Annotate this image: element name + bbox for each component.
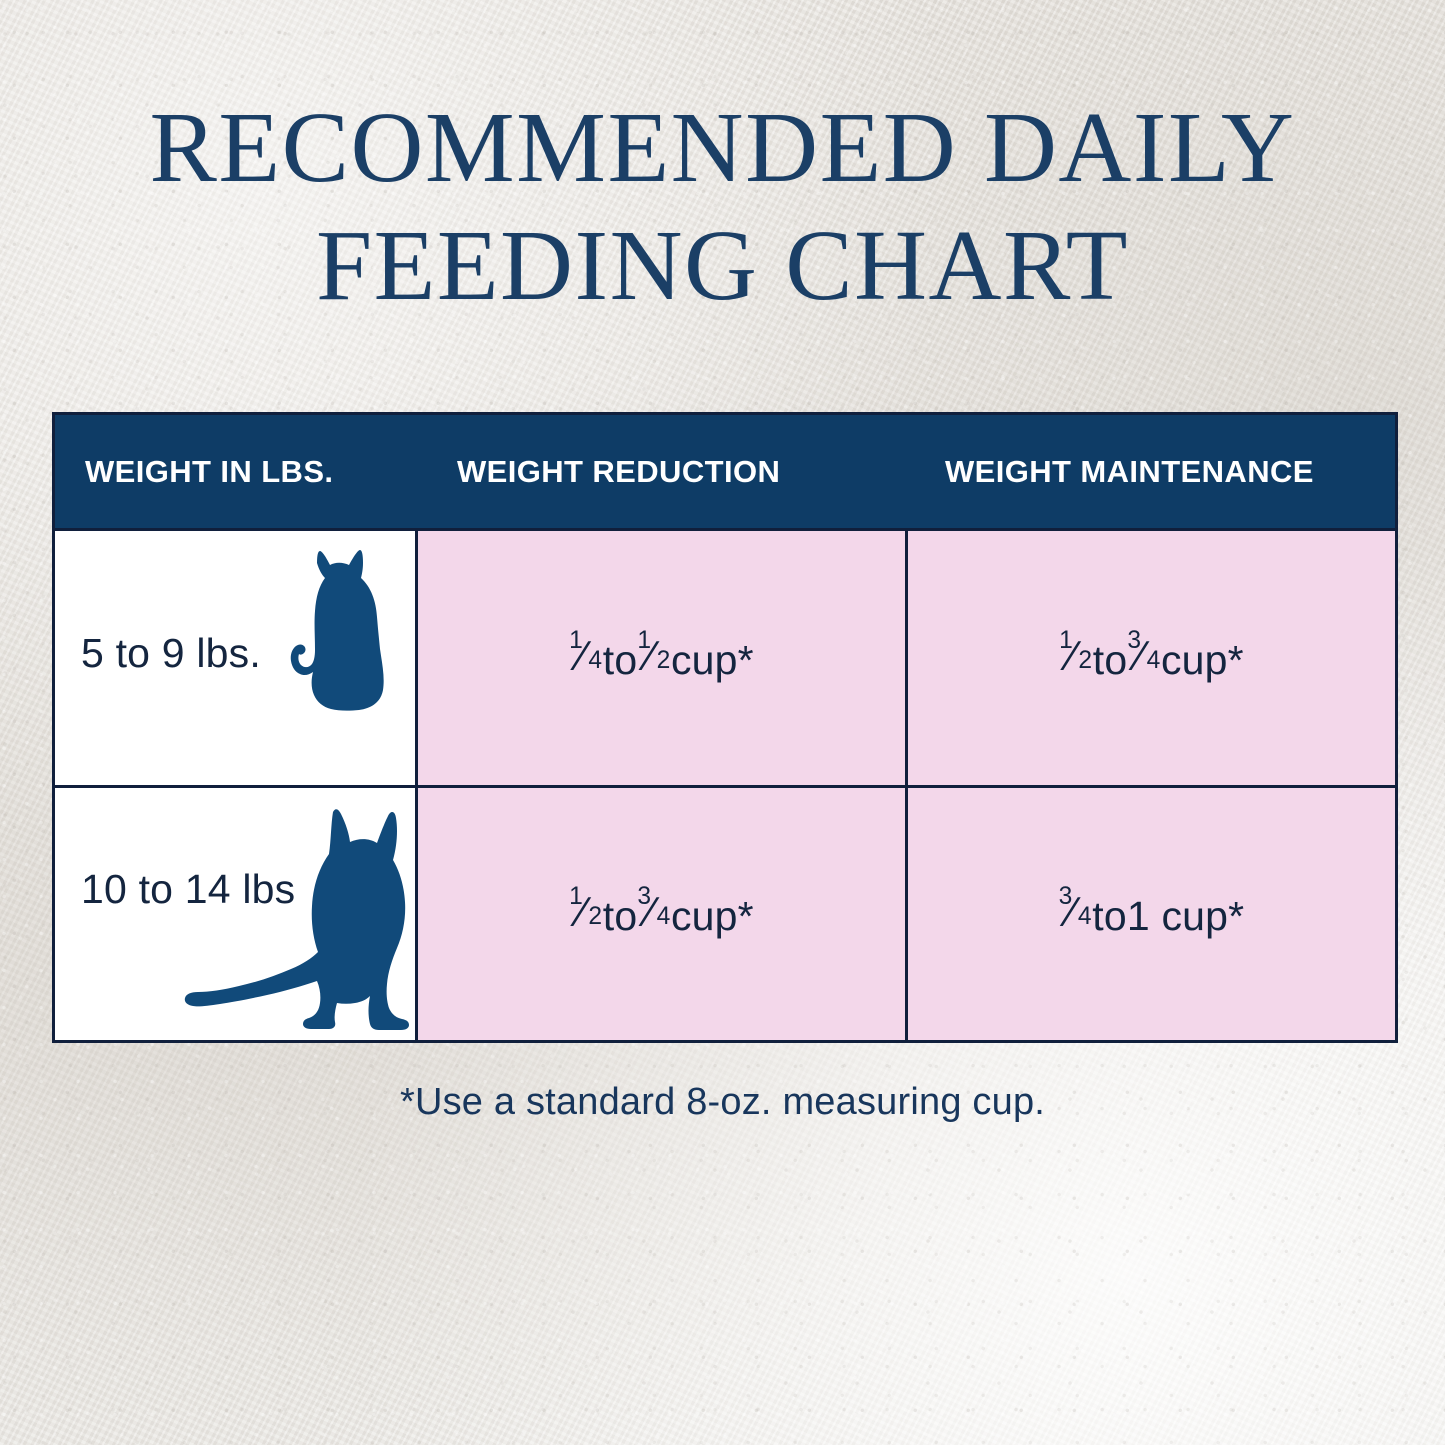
feeding-table: WEIGHT IN LBS. WEIGHT REDUCTION WEIGHT M… (52, 412, 1398, 1043)
maintenance-row-1-mid: to (1093, 637, 1128, 684)
cell-weight-maintenance: 3⁄4 to 1 cup* (905, 788, 1395, 1040)
feeding-chart-canvas: RECOMMENDED DAILY FEEDING CHART WEIGHT I… (0, 0, 1445, 1445)
cat-sitting-back-view-icon (277, 545, 395, 717)
fraction-three-quarters: 3⁄4 (637, 889, 671, 930)
footnote-text: *Use a standard 8-oz. measuring cup. (0, 1081, 1445, 1124)
fraction-one-half: 1⁄2 (1059, 633, 1093, 674)
fraction-one-half: 1⁄2 (569, 889, 603, 930)
reduction-row-2-suffix: cup* (671, 893, 754, 940)
reduction-row-1-mid: to (603, 637, 638, 684)
reduction-amount-row-2: 1⁄2 to 3⁄4 cup* (569, 889, 754, 940)
weight-range-label: 10 to 14 lbs (81, 866, 295, 913)
weight-range-label: 5 to 9 lbs. (81, 630, 261, 677)
page-title-line-1: RECOMMENDED DAILY (150, 91, 1296, 203)
cell-weight-reduction: 1⁄4 to 1⁄2 cup* (415, 531, 905, 785)
cell-weight-range: 5 to 9 lbs. (55, 531, 415, 785)
maintenance-row-2-suffix: 1 cup* (1127, 893, 1244, 940)
page-title-line-2: FEEDING CHART (0, 206, 1445, 324)
maintenance-row-1-suffix: cup* (1161, 637, 1244, 684)
cell-weight-maintenance: 1⁄2 to 3⁄4 cup* (905, 531, 1395, 785)
cell-weight-range: 10 to 14 lbs (55, 788, 415, 1040)
table-row: 10 to 14 lbs 1⁄2 to 3⁄4 cup* (55, 785, 1395, 1040)
table-header-row: WEIGHT IN LBS. WEIGHT REDUCTION WEIGHT M… (55, 415, 1395, 528)
maintenance-amount-row-2: 3⁄4 to 1 cup* (1059, 889, 1245, 940)
fraction-one-half: 1⁄2 (637, 633, 671, 674)
column-header-weight-maintenance: WEIGHT MAINTENANCE (905, 454, 1395, 490)
maintenance-amount-row-1: 1⁄2 to 3⁄4 cup* (1059, 633, 1244, 684)
fraction-three-quarters: 3⁄4 (1127, 633, 1161, 674)
cat-sitting-side-view-icon (183, 806, 421, 1040)
reduction-row-2-mid: to (603, 893, 638, 940)
fraction-three-quarters: 3⁄4 (1059, 889, 1093, 930)
cell-weight-reduction: 1⁄2 to 3⁄4 cup* (415, 788, 905, 1040)
table-row: 5 to 9 lbs. 1⁄4 to 1⁄2 cup* (55, 528, 1395, 785)
column-header-weight: WEIGHT IN LBS. (55, 454, 415, 490)
reduction-amount-row-1: 1⁄4 to 1⁄2 cup* (569, 633, 754, 684)
fraction-one-quarter: 1⁄4 (569, 633, 603, 674)
column-header-weight-reduction: WEIGHT REDUCTION (415, 454, 905, 490)
page-title: RECOMMENDED DAILY FEEDING CHART (0, 88, 1445, 324)
maintenance-row-2-mid: to (1092, 893, 1127, 940)
reduction-row-1-suffix: cup* (671, 637, 754, 684)
